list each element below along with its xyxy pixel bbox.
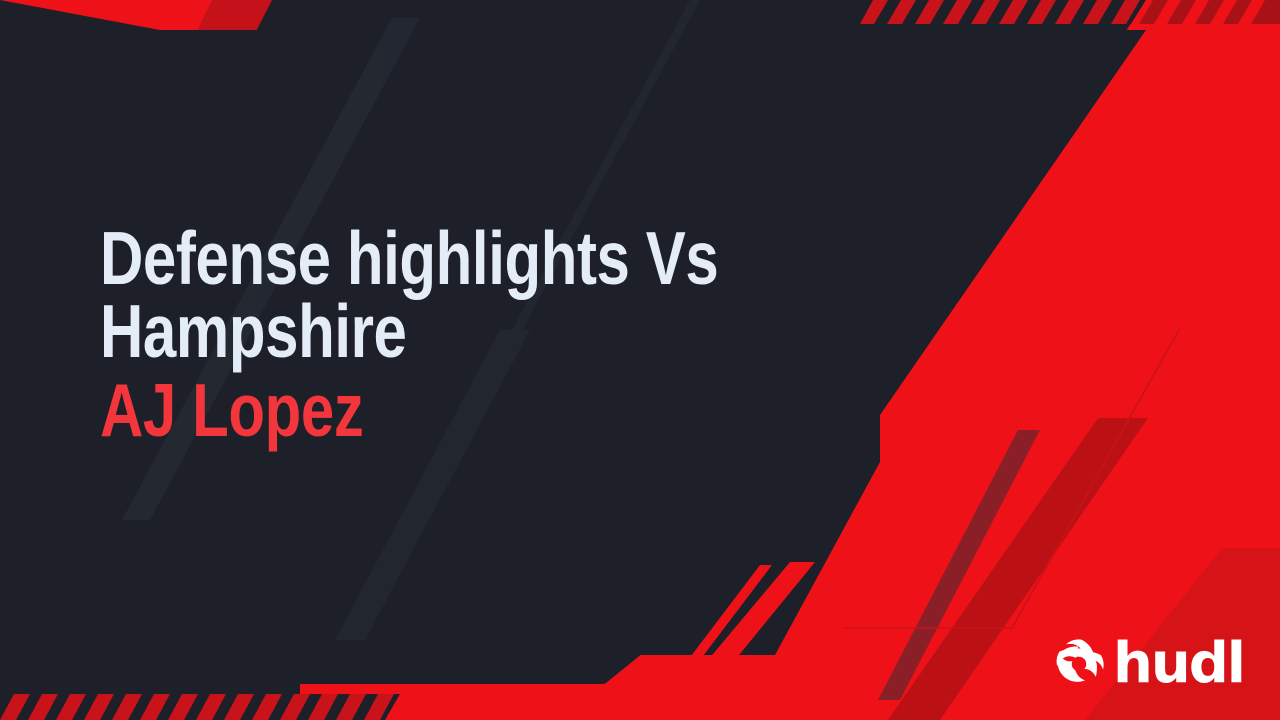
hudl-swirl-mark [1051, 636, 1107, 692]
hudl-logo: hudl [1051, 636, 1244, 692]
headline-line-1: Defense highlights Vs [100, 222, 900, 295]
title-card-canvas: Defense highlights Vs Hampshire AJ Lopez… [0, 0, 1280, 720]
headline-line-2: Hampshire [100, 295, 900, 368]
title-block: Defense highlights Vs Hampshire AJ Lopez [100, 222, 900, 446]
hudl-wordmark: hudl [1113, 636, 1244, 692]
bottom-left-stripe-band [0, 690, 420, 720]
subject-line-1: AJ Lopez [100, 374, 740, 447]
subject-name: AJ Lopez [100, 374, 900, 447]
page-title: Defense highlights Vs Hampshire [100, 222, 1100, 368]
top-right-stripe-band [859, 0, 1280, 24]
